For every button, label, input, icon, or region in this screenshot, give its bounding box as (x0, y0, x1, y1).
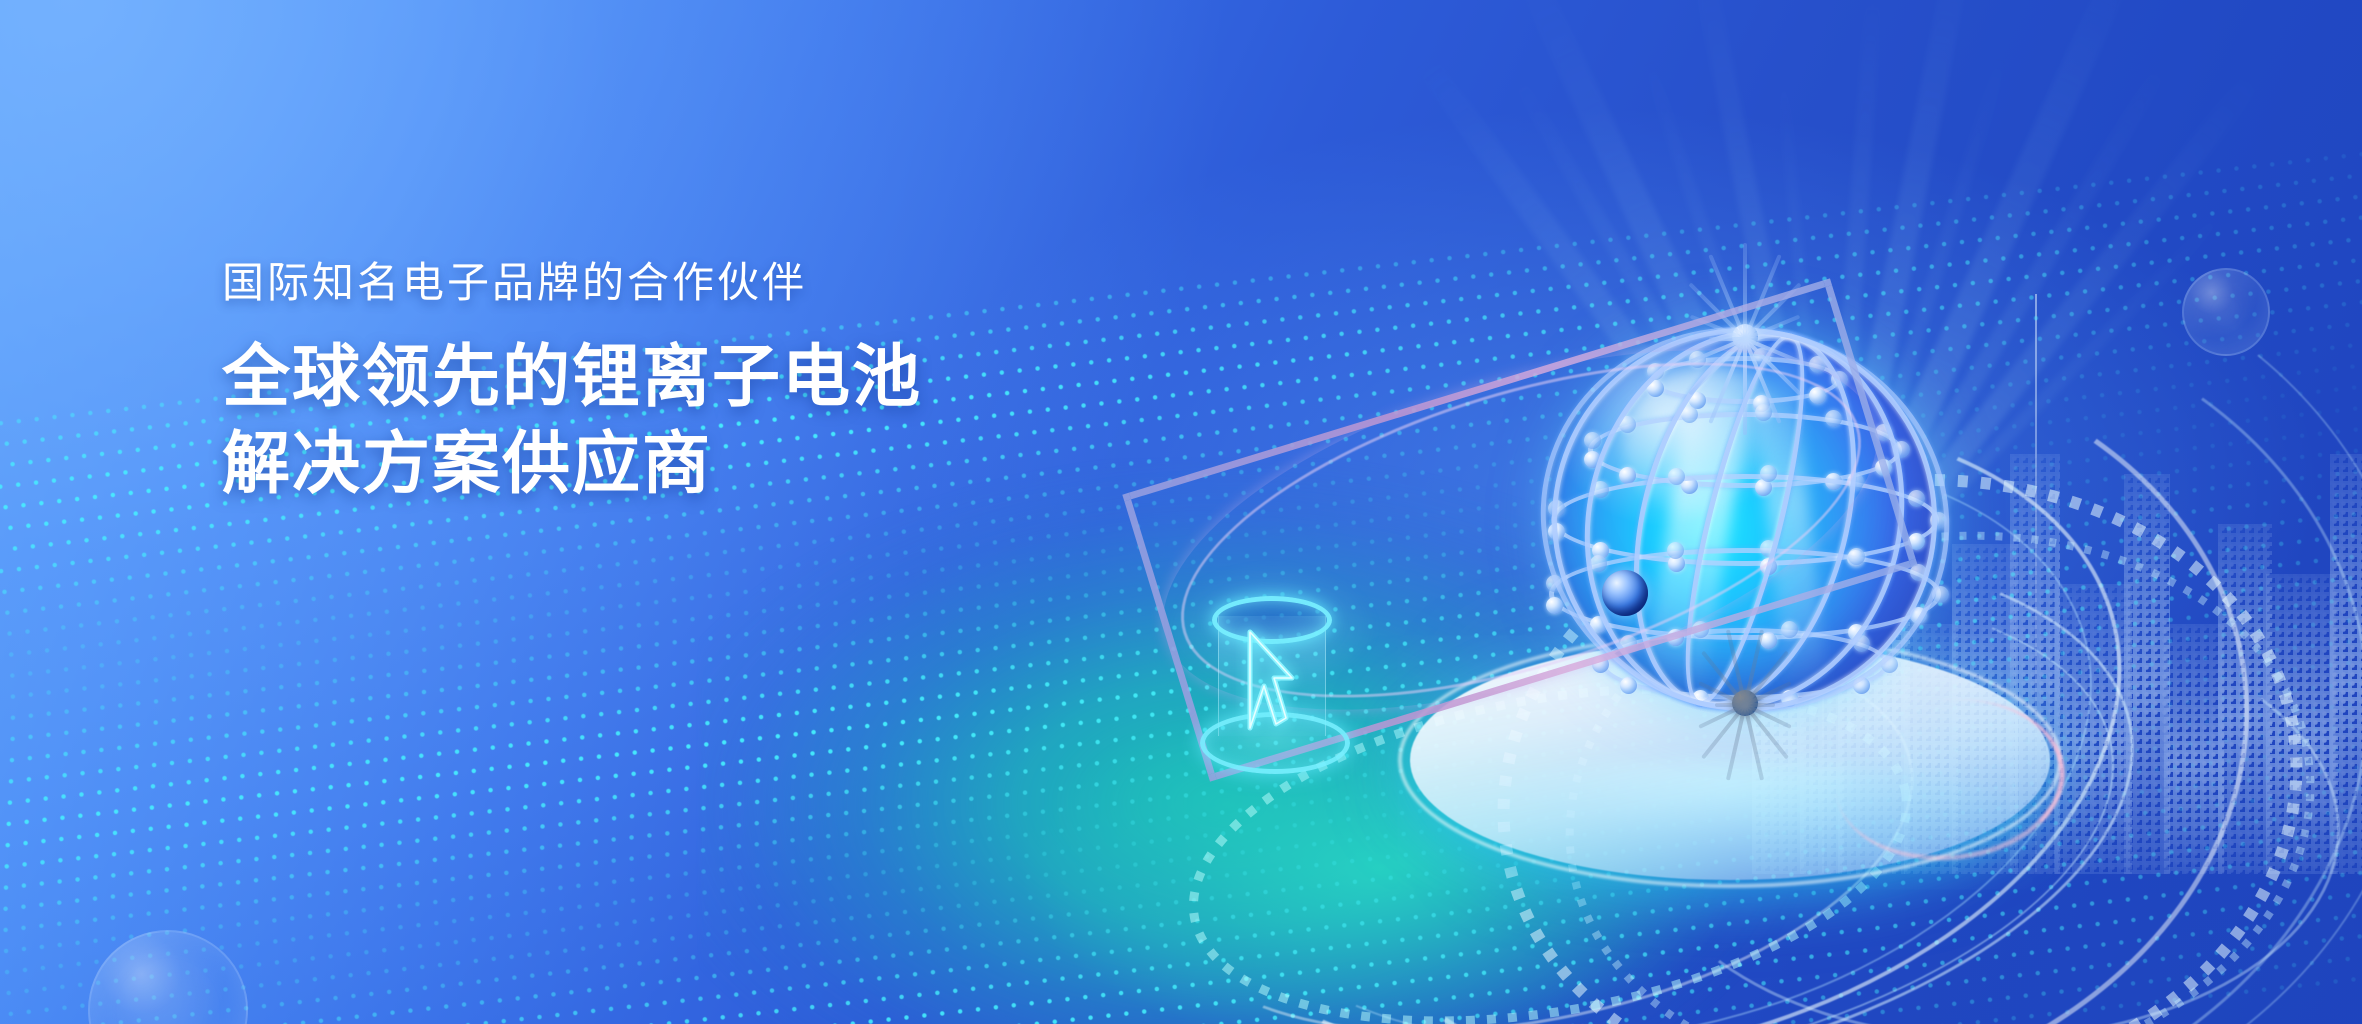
hero-copy: 国际知名电子品牌的合作伙伴 全球领先的锂离子电池 解决方案供应商 (222, 258, 922, 508)
hero-eyebrow: 国际知名电子品牌的合作伙伴 (222, 258, 922, 308)
hero-banner: 国际知名电子品牌的合作伙伴 全球领先的锂离子电池 解决方案供应商 (0, 0, 2362, 1024)
hero-headline-line2: 解决方案供应商 (222, 421, 922, 508)
globe-spoke (1743, 243, 1747, 339)
orbit-node-sphere (1602, 570, 1648, 616)
cursor-arrow-icon (1238, 618, 1304, 734)
globe-node (1620, 677, 1637, 694)
bubble-icon (2182, 268, 2270, 356)
cursor-beam-cylinder (1212, 600, 1332, 750)
hero-headline-line1: 全球领先的锂离子电池 (222, 334, 922, 421)
